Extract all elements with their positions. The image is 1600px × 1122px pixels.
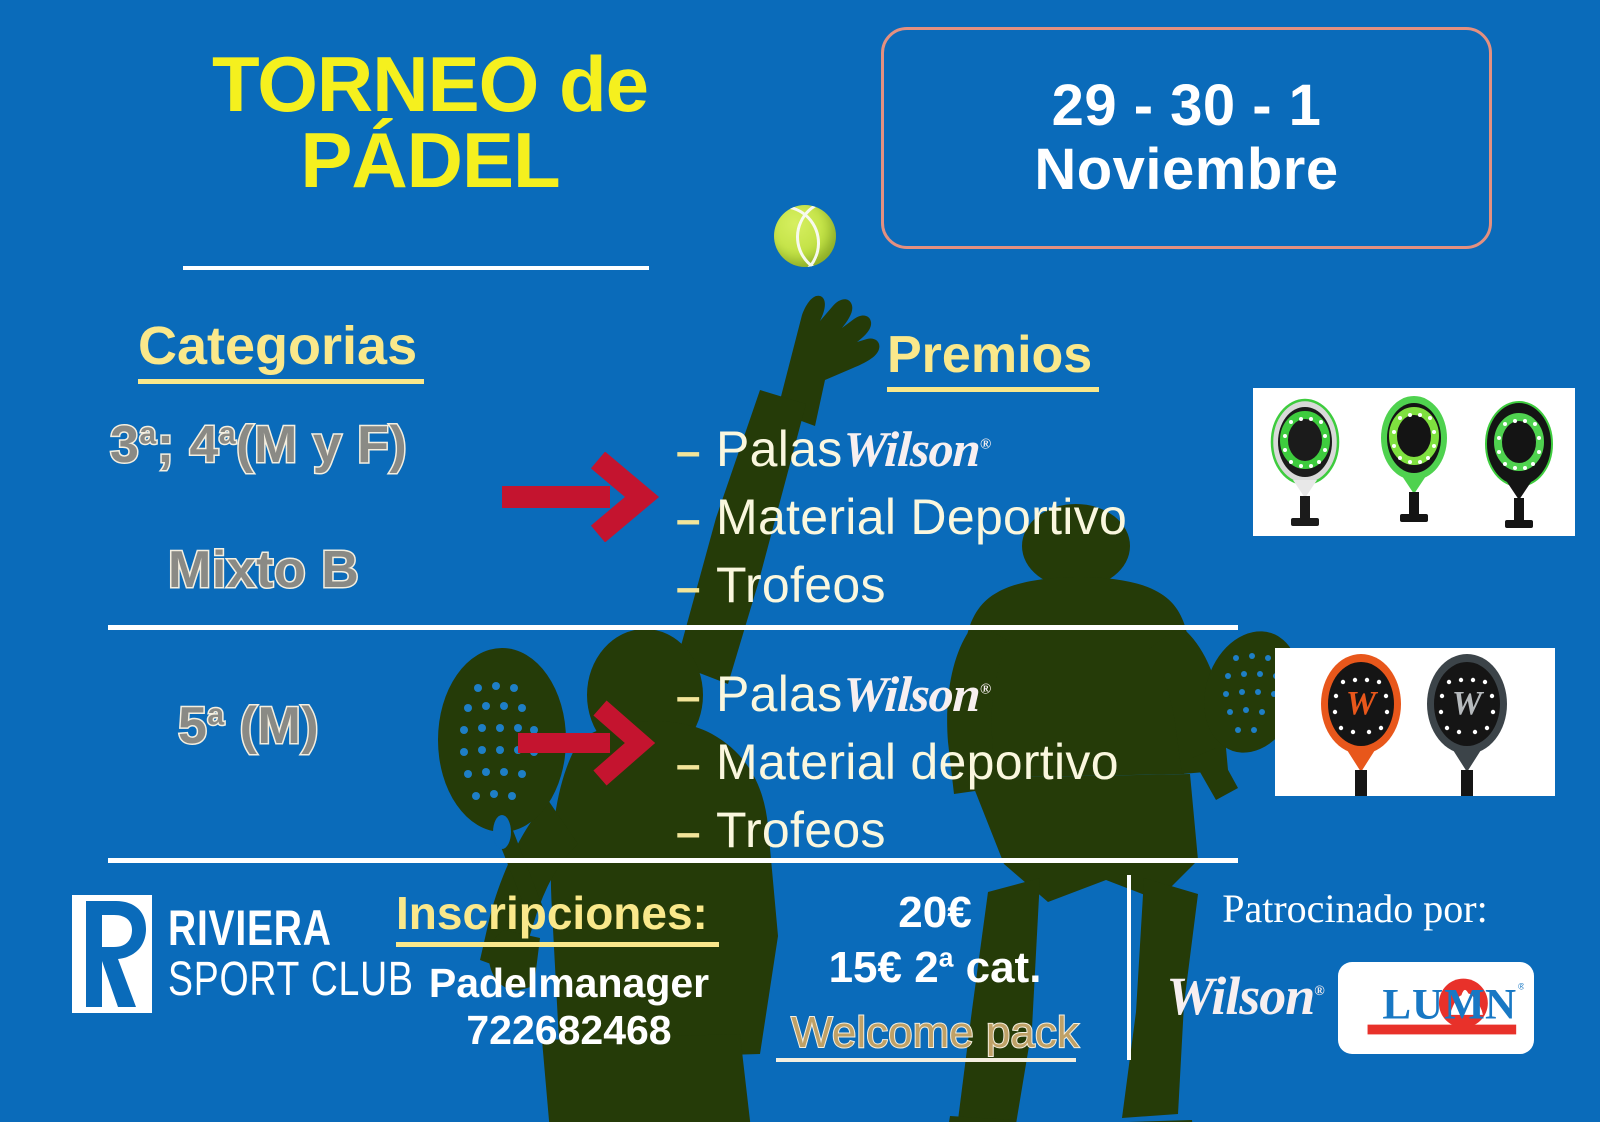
registration-heading-underline — [396, 942, 719, 947]
prizes-heading-underline — [887, 387, 1099, 392]
prize-list-block-1: – Palas Wilson® – Material Deportivo – T… — [676, 420, 1127, 624]
racket-photo-force-set: W W — [1275, 648, 1555, 796]
welcome-pack-underline — [776, 1058, 1076, 1062]
prize-label: Palas — [716, 420, 843, 478]
prize-dash: – — [676, 563, 716, 613]
price-main: 20€ — [760, 885, 1110, 940]
title-underline-rule — [183, 266, 649, 270]
tennis-ball-icon — [774, 205, 836, 267]
categories-heading-text: Categorias — [138, 316, 417, 376]
prize-dash: – — [676, 740, 716, 790]
pointer-arrow-top — [502, 452, 662, 542]
sponsor-lumon-logo: LUM N ® — [1338, 962, 1534, 1054]
categories-heading: Categorias — [138, 315, 424, 384]
prize-item: – Material Deportivo — [676, 488, 1127, 546]
date-line-month: Noviembre — [1034, 138, 1338, 202]
registration-heading: Inscripciones: — [396, 886, 719, 947]
prize-label: Palas — [716, 665, 843, 723]
title-line-2: PÁDEL — [120, 122, 740, 198]
wilson-wordmark: Wilson® — [841, 665, 991, 723]
section-divider-bottom — [108, 858, 1238, 863]
registration-heading-text: Inscripciones: — [396, 887, 708, 939]
svg-text:LUM: LUM — [1382, 982, 1485, 1029]
prize-label: Material Deportivo — [716, 488, 1127, 546]
prizes-heading: Premios — [887, 325, 1099, 392]
prize-dash: – — [676, 672, 716, 722]
racket-photo-green-set — [1253, 388, 1575, 536]
wilson-wordmark: Wilson® — [841, 420, 991, 478]
poster-title: TORNEO de PÁDEL — [120, 46, 740, 199]
prize-dash: – — [676, 495, 716, 545]
club-name-line-2: SPORT CLUB — [168, 957, 414, 1003]
prize-item: – Palas Wilson® — [676, 665, 1119, 723]
sponsor-wilson-logo: Wilson® — [1160, 965, 1330, 1027]
prize-item: – Trofeos — [676, 556, 1127, 614]
title-line-1: TORNEO de — [120, 46, 740, 122]
riviera-r-monogram-icon — [72, 895, 152, 1013]
date-line-days: 29 - 30 - 1 — [1034, 74, 1338, 138]
sponsor-vertical-divider — [1127, 875, 1131, 1060]
svg-text:®: ® — [1518, 981, 1524, 991]
registration-platform: Padelmanager — [404, 960, 734, 1007]
prize-dash: – — [676, 427, 716, 477]
section-divider-top — [108, 625, 1238, 630]
tournament-poster: TORNEO de PÁDEL 29 - 30 - 1 Noviembre Ca… — [0, 0, 1600, 1122]
club-name-line-1: RIVIERA — [168, 905, 414, 953]
category-item-3-4: 3a; 4a(M y F) — [110, 415, 407, 475]
sponsors-heading: Patrocinado por: — [1185, 885, 1525, 932]
prizes-heading-text: Premios — [887, 326, 1092, 384]
svg-text:N: N — [1485, 982, 1516, 1029]
prize-label: Trofeos — [716, 556, 886, 614]
prize-label: Material deportivo — [716, 733, 1119, 791]
registration-details: Padelmanager 722682468 — [404, 960, 734, 1054]
pricing-block: 20€ 15€ 2a cat. — [760, 885, 1110, 995]
category-item-5m: 5a (M) — [178, 696, 319, 756]
registration-phone: 722682468 — [404, 1007, 734, 1054]
svg-text:W: W — [1452, 685, 1485, 722]
prize-label: Trofeos — [716, 801, 886, 859]
pointer-arrow-bottom — [518, 700, 658, 786]
welcome-pack-label: Welcome pack — [760, 1008, 1110, 1058]
svg-text:W: W — [1346, 685, 1379, 722]
categories-heading-underline — [138, 379, 424, 384]
prize-item: – Trofeos — [676, 801, 1119, 859]
price-second-category: 15€ 2a cat. — [760, 940, 1110, 995]
prize-item: – Palas Wilson® — [676, 420, 1127, 478]
prize-item: – Material deportivo — [676, 733, 1119, 791]
prize-list-block-2: – Palas Wilson® – Material deportivo – T… — [676, 665, 1119, 869]
tournament-date-box: 29 - 30 - 1 Noviembre — [881, 27, 1492, 249]
category-item-mixto-b: Mixto B — [168, 540, 359, 600]
prize-dash: – — [676, 808, 716, 858]
